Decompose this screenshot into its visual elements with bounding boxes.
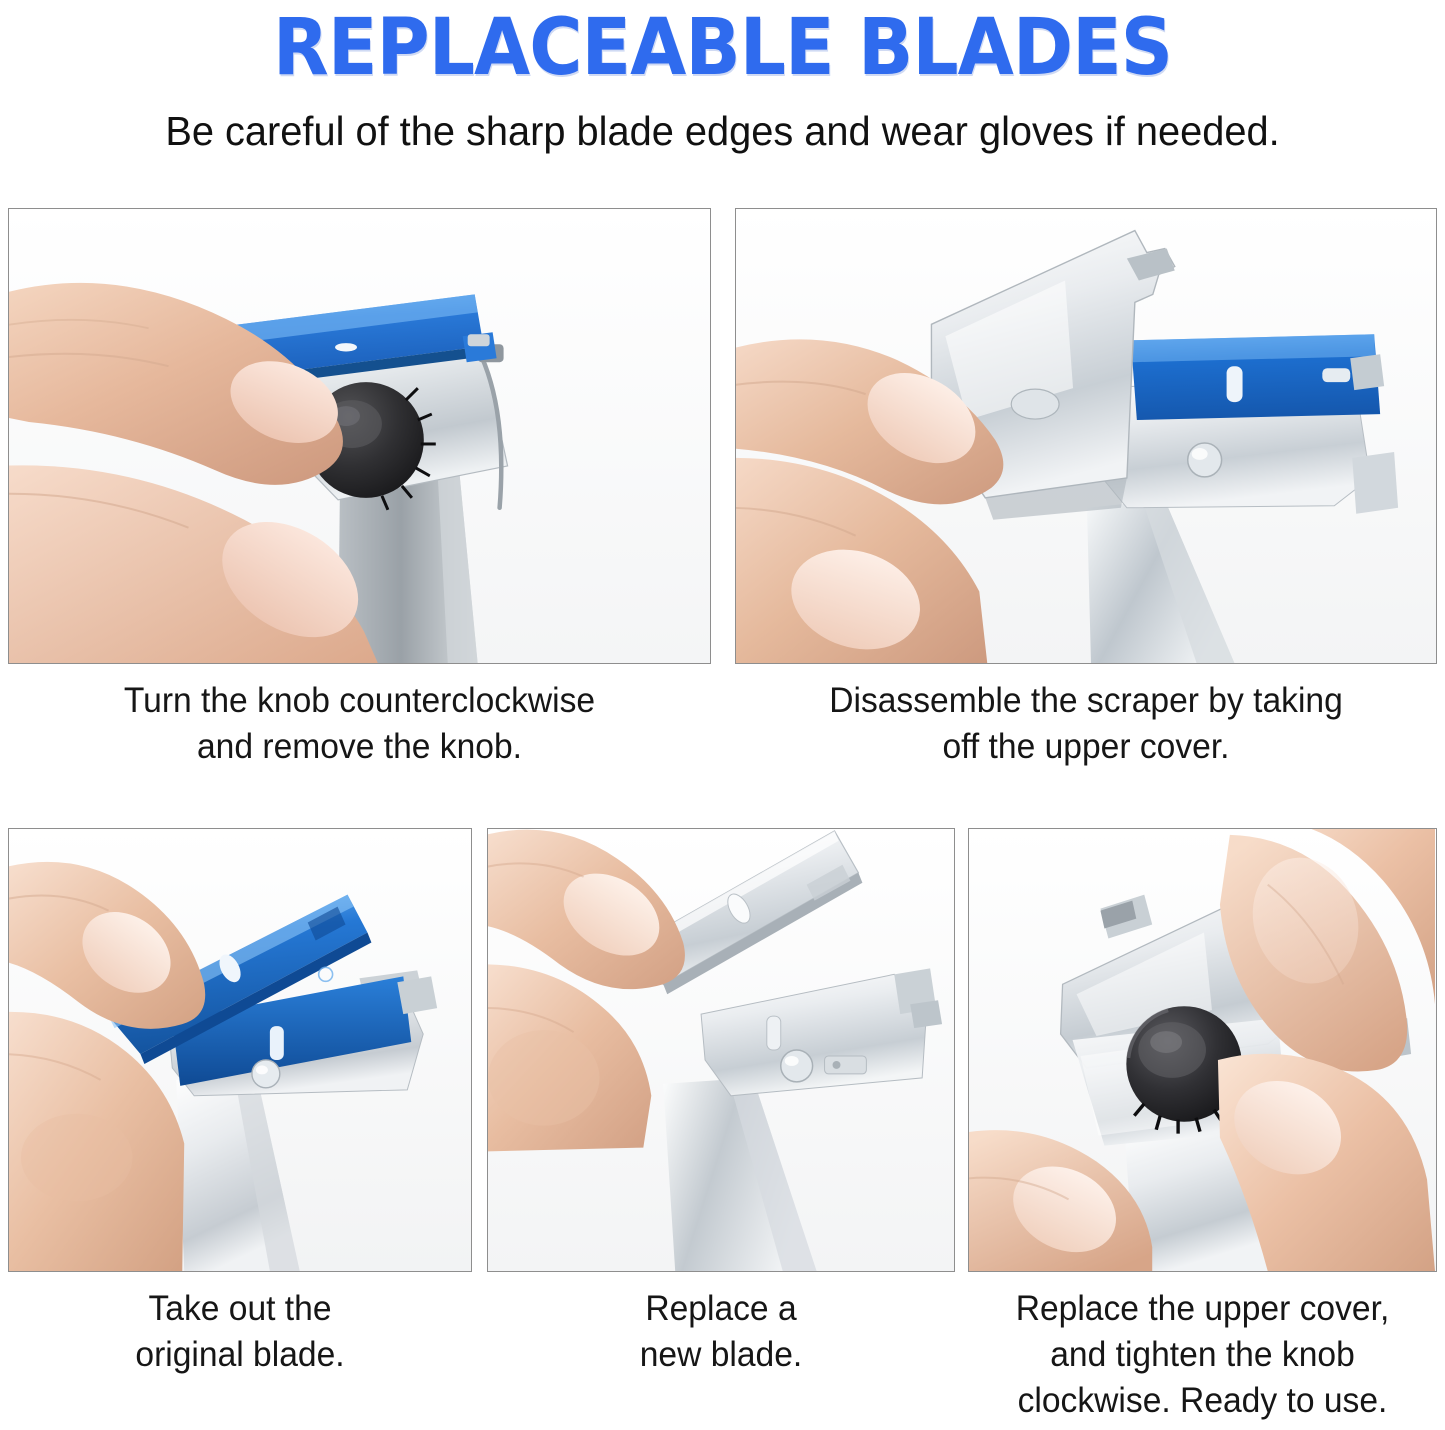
step-4-caption-line-2: new blade. [496,1332,945,1378]
step-5-image-panel [968,828,1437,1272]
step-1-image-panel [8,208,711,664]
step-5-caption-line-1: Replace the upper cover, [977,1286,1427,1332]
step-3-photo [9,829,471,1271]
step-5-caption: Replace the upper cover, and tighten the… [977,1286,1427,1424]
page-subtitle: Be careful of the sharp blade edges and … [22,90,1424,156]
step-4-image-panel [487,828,955,1272]
scraper-knob-removal-illustration [9,209,710,663]
header: REPLACEABLE BLADES Be careful of the sha… [0,0,1445,156]
step-2-photo [736,209,1436,663]
step-3-image-panel [8,828,472,1272]
remove-original-blade-illustration [9,829,471,1271]
upper-cover-removal-illustration [736,209,1436,663]
step-2-image-panel [735,208,1437,664]
step-5-caption-line-2: and tighten the knob [977,1332,1427,1378]
steps-row-top: Turn the knob counterclockwise and remov… [0,208,1445,808]
step-4-caption: Replace a new blade. [496,1286,945,1378]
step-5-caption-line-3: clockwise. Ready to use. [977,1378,1427,1424]
step-3-caption: Take out the original blade. [17,1286,462,1378]
step-1-caption: Turn the knob counterclockwise and remov… [22,678,697,770]
step-3-caption-line-1: Take out the [17,1286,462,1332]
step-1-caption-line-2: and remove the knob. [22,724,697,770]
step-2-caption-line-2: off the upper cover. [749,724,1423,770]
insert-new-blade-illustration [488,829,954,1271]
step-4-caption-line-1: Replace a [496,1286,945,1332]
step-2-caption: Disassemble the scraper by taking off th… [749,678,1423,770]
step-1-caption-line-1: Turn the knob counterclockwise [22,678,697,724]
step-5-photo [969,829,1436,1271]
step-2-caption-line-1: Disassemble the scraper by taking [749,678,1423,724]
page-title: REPLACEABLE BLADES [51,0,1395,90]
step-3-caption-line-2: original blade. [17,1332,462,1378]
steps-row-bottom: Take out the original blade. Replace a n… [0,828,1445,1428]
step-4-photo [488,829,954,1271]
replaceable-blades-infographic: REPLACEABLE BLADES Be careful of the sha… [0,0,1445,1430]
step-1-photo [9,209,710,663]
replace-cover-tighten-knob-illustration [969,829,1436,1271]
